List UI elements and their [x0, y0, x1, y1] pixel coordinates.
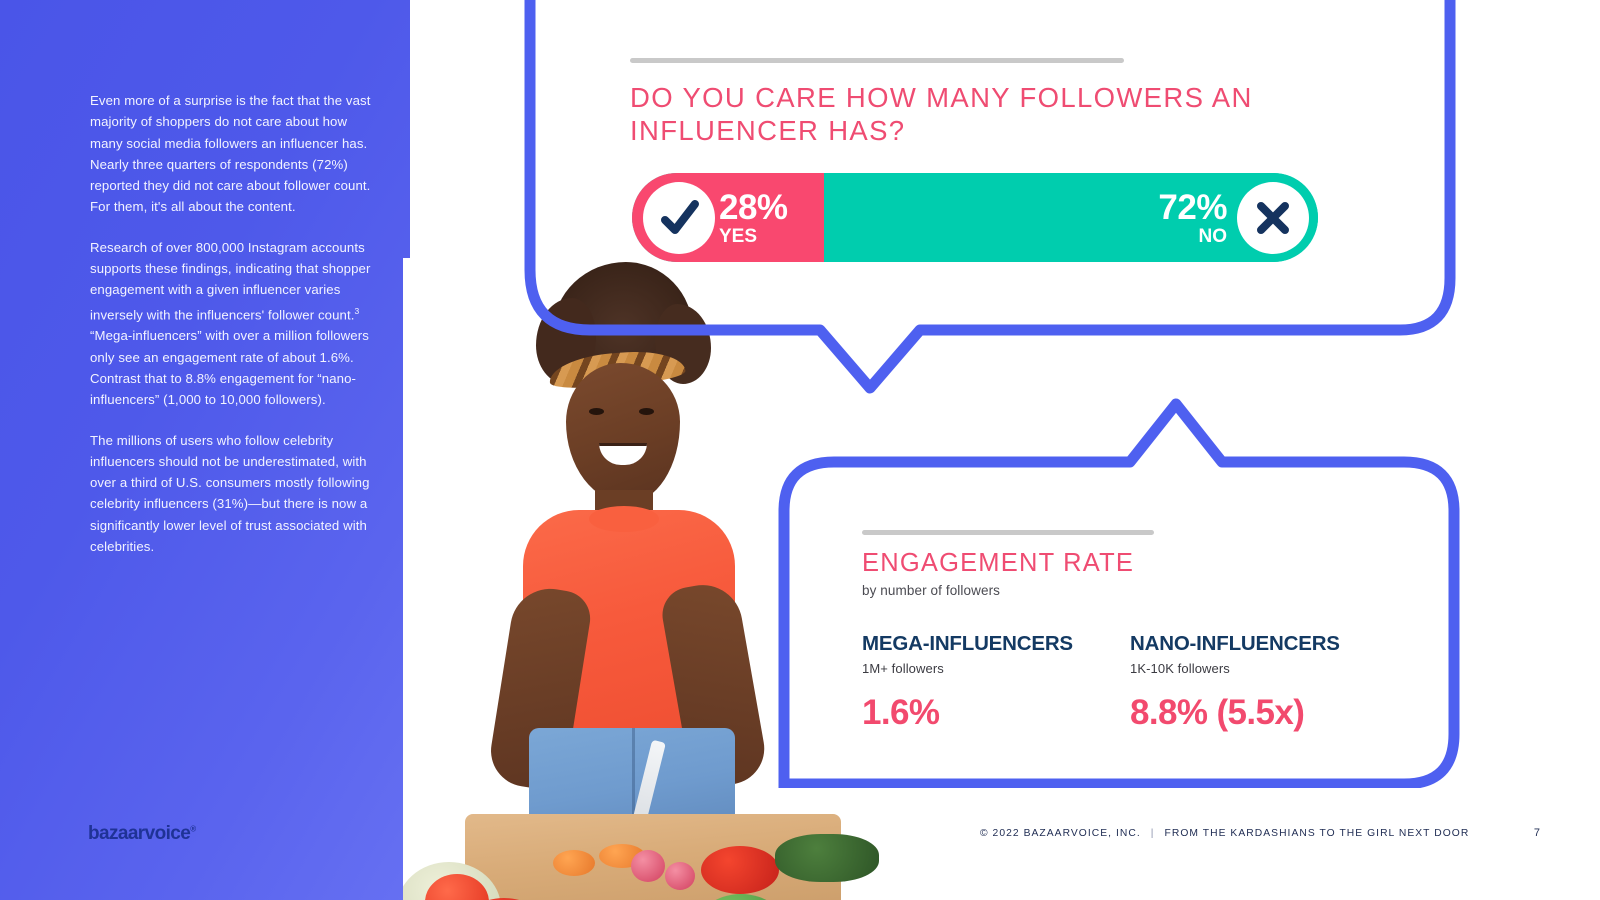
yes-value-block: 28% YES: [719, 190, 788, 246]
stat-value: 1.6%: [862, 693, 1130, 733]
stat-nano-influencers: NANO-INFLUENCERS 1K-10K followers 8.8% (…: [1130, 632, 1398, 733]
stat-sub: 1M+ followers: [862, 661, 1130, 676]
paragraph-3: The millions of users who follow celebri…: [90, 430, 380, 558]
no-percent: 72%: [1158, 190, 1227, 225]
footer-document-title: FROM THE KARDASHIANS TO THE GIRL NEXT DO…: [1165, 828, 1470, 839]
bazaarvoice-logo: bazaarvoice®: [88, 823, 195, 845]
engagement-stats-row: MEGA-INFLUENCERS 1M+ followers 1.6% NANO…: [862, 632, 1402, 733]
title-rule: [630, 58, 1124, 63]
cross-icon: [1237, 182, 1309, 254]
photo-vegetable: [775, 834, 879, 882]
footnote-marker: 3: [355, 306, 360, 316]
photo-vegetable: [631, 850, 665, 882]
report-page: Even more of a surprise is the fact that…: [0, 0, 1600, 900]
page-number: 7: [1534, 827, 1540, 839]
page-footer: © 2022 BAZAARVOICE, INC. | FROM THE KARD…: [980, 827, 1540, 839]
bar-segment-yes: 28% YES: [632, 173, 824, 262]
paragraph-1: Even more of a surprise is the fact that…: [90, 90, 380, 218]
callout-bottom-content: ENGAGEMENT RATE by number of followers M…: [862, 530, 1402, 733]
left-sidebar-panel: Even more of a surprise is the fact that…: [0, 0, 410, 900]
stat-mega-influencers: MEGA-INFLUENCERS 1M+ followers 1.6%: [862, 632, 1130, 733]
yes-percent: 28%: [719, 190, 788, 225]
yes-label: YES: [719, 227, 788, 246]
stat-name: MEGA-INFLUENCERS: [862, 632, 1130, 656]
body-copy: Even more of a surprise is the fact that…: [90, 90, 380, 576]
photo-vegetable: [665, 862, 695, 890]
photo-vegetable: [701, 846, 779, 894]
callout-top-content: DO YOU CARE HOW MANY FOLLOWERS AN INFLUE…: [630, 58, 1350, 147]
brand-name: bazaarvoice: [88, 823, 190, 844]
paragraph-2: Research of over 800,000 Instagram accou…: [90, 237, 380, 411]
paragraph-2-text: Research of over 800,000 Instagram accou…: [90, 240, 370, 322]
no-label: NO: [1158, 227, 1227, 246]
stat-value: 8.8% (5.5x): [1130, 693, 1398, 733]
yes-no-stacked-bar: 28% YES 72% NO: [632, 173, 1318, 262]
check-icon: [643, 182, 715, 254]
photo-collar: [589, 506, 659, 532]
engagement-rule: [862, 530, 1154, 535]
engagement-rate-subtitle: by number of followers: [862, 583, 1402, 598]
paragraph-2-cont: “Mega-influencers” with over a million f…: [90, 328, 369, 407]
engagement-rate-title: ENGAGEMENT RATE: [862, 549, 1402, 577]
stat-name: NANO-INFLUENCERS: [1130, 632, 1398, 656]
registered-mark: ®: [190, 825, 195, 834]
footer-separator: |: [1151, 828, 1155, 839]
footer-copyright: © 2022 BAZAARVOICE, INC.: [980, 828, 1141, 839]
photo-vegetable: [553, 850, 595, 876]
no-value-block: 72% NO: [1158, 190, 1227, 246]
bar-segment-no: 72% NO: [824, 173, 1318, 262]
question-title: DO YOU CARE HOW MANY FOLLOWERS AN INFLUE…: [630, 81, 1350, 147]
stat-sub: 1K-10K followers: [1130, 661, 1398, 676]
